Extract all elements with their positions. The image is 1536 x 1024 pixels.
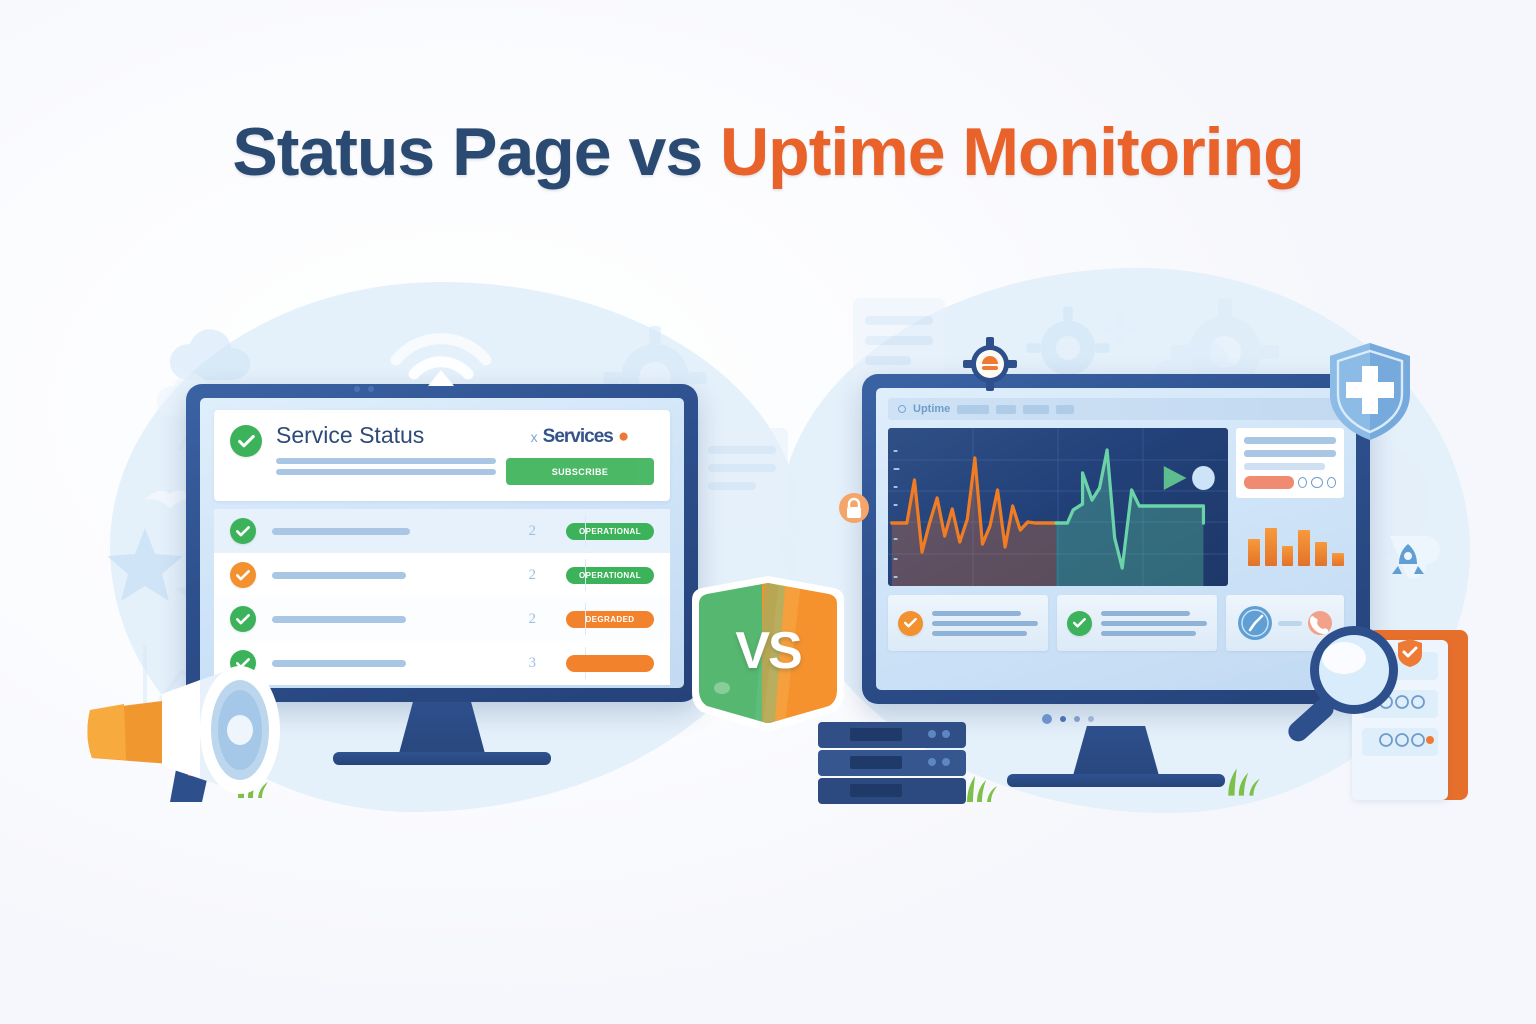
sidepanel-bar <box>1244 437 1336 444</box>
topbar-block <box>1056 405 1074 414</box>
card-lines <box>1101 611 1207 636</box>
sidepanel-bar <box>1244 463 1325 470</box>
header-bar <box>276 458 496 464</box>
status-badge: Operational <box>566 567 654 584</box>
bar <box>1298 530 1310 566</box>
monitor-foot <box>1007 774 1225 787</box>
vs-label: VS <box>684 572 852 734</box>
monitor-foot <box>333 752 551 765</box>
check-circle-icon <box>230 518 256 544</box>
row-number: 2 <box>529 567 537 584</box>
status-card[interactable] <box>888 595 1048 651</box>
row-divider <box>585 559 586 591</box>
sidepanel-metrics <box>1244 476 1336 489</box>
status-card[interactable] <box>1057 595 1217 651</box>
header-bar <box>276 469 496 475</box>
topbar-block <box>957 405 989 414</box>
check-circle-icon <box>230 606 256 632</box>
page-title: Status Page vs Uptime Monitoring <box>0 118 1536 186</box>
topbar-block <box>996 405 1016 414</box>
bar <box>1265 528 1277 566</box>
card-lines <box>932 611 1038 636</box>
dashboard-sidepanel <box>1236 428 1344 586</box>
status-badge <box>566 655 654 672</box>
document-icon <box>688 420 798 540</box>
status-badge: Degraded <box>566 611 654 628</box>
row-number: 2 <box>529 523 537 540</box>
bar <box>1315 542 1327 566</box>
check-circle-icon <box>1067 611 1092 636</box>
brand-logo-text: Services <box>543 426 613 448</box>
check-circle-icon <box>230 562 256 588</box>
check-circle-icon <box>230 425 262 457</box>
rocket-icon <box>1372 528 1444 594</box>
gear-badge-icon <box>962 336 1018 392</box>
magnifier-icon <box>1282 618 1412 746</box>
circle-icon <box>1298 477 1307 488</box>
row-label-bar <box>272 528 410 535</box>
bar <box>1282 546 1294 566</box>
metric-bar <box>1244 476 1294 489</box>
row-label-bar <box>272 572 406 579</box>
sidepanel-bar-chart <box>1236 508 1344 566</box>
uptime-chart <box>888 428 1228 586</box>
row-label-bar <box>272 616 406 623</box>
gauge-icon <box>1236 604 1274 642</box>
wifi-icon <box>382 326 500 388</box>
sidepanel-bar <box>1244 450 1336 457</box>
check-circle-icon <box>898 611 923 636</box>
vs-badge: VS <box>684 572 852 734</box>
row-divider <box>585 603 586 635</box>
megaphone-icon <box>62 630 312 810</box>
monitor-camera-dots <box>1042 714 1094 724</box>
table-row[interactable]: 2 Operational <box>214 553 670 597</box>
topbar-block <box>1023 405 1049 414</box>
service-status-header: Service Status x Services ● Subscribe <box>214 410 670 501</box>
grass-icon <box>1222 768 1266 796</box>
dashboard-topbar: Uptime <box>888 398 1344 420</box>
shield-plus-icon <box>1326 340 1414 444</box>
dashboard-body <box>888 428 1344 586</box>
circle-icon <box>898 405 906 413</box>
bar <box>1332 553 1344 566</box>
title-part-orange: Uptime Monitoring <box>720 114 1304 190</box>
row-number: 3 <box>529 655 537 672</box>
bar <box>1248 539 1260 566</box>
table-row[interactable]: 2 Operational <box>214 509 670 553</box>
circle-icon <box>1327 477 1336 488</box>
close-icon: x <box>531 429 538 445</box>
row-divider <box>585 515 586 547</box>
circle-icon <box>1311 477 1323 488</box>
dashboard-label: Uptime <box>913 403 950 415</box>
dashboard-cards <box>888 595 1344 651</box>
brand-dot-icon: ● <box>618 426 629 448</box>
service-status-title: Service Status <box>276 424 496 447</box>
monitor-camera-dots <box>354 386 374 392</box>
lock-icon <box>838 492 870 524</box>
status-badge: Operational <box>566 523 654 540</box>
row-number: 2 <box>529 611 537 628</box>
subscribe-button[interactable]: Subscribe <box>506 458 654 485</box>
title-part-blue: Status Page vs <box>232 114 720 190</box>
